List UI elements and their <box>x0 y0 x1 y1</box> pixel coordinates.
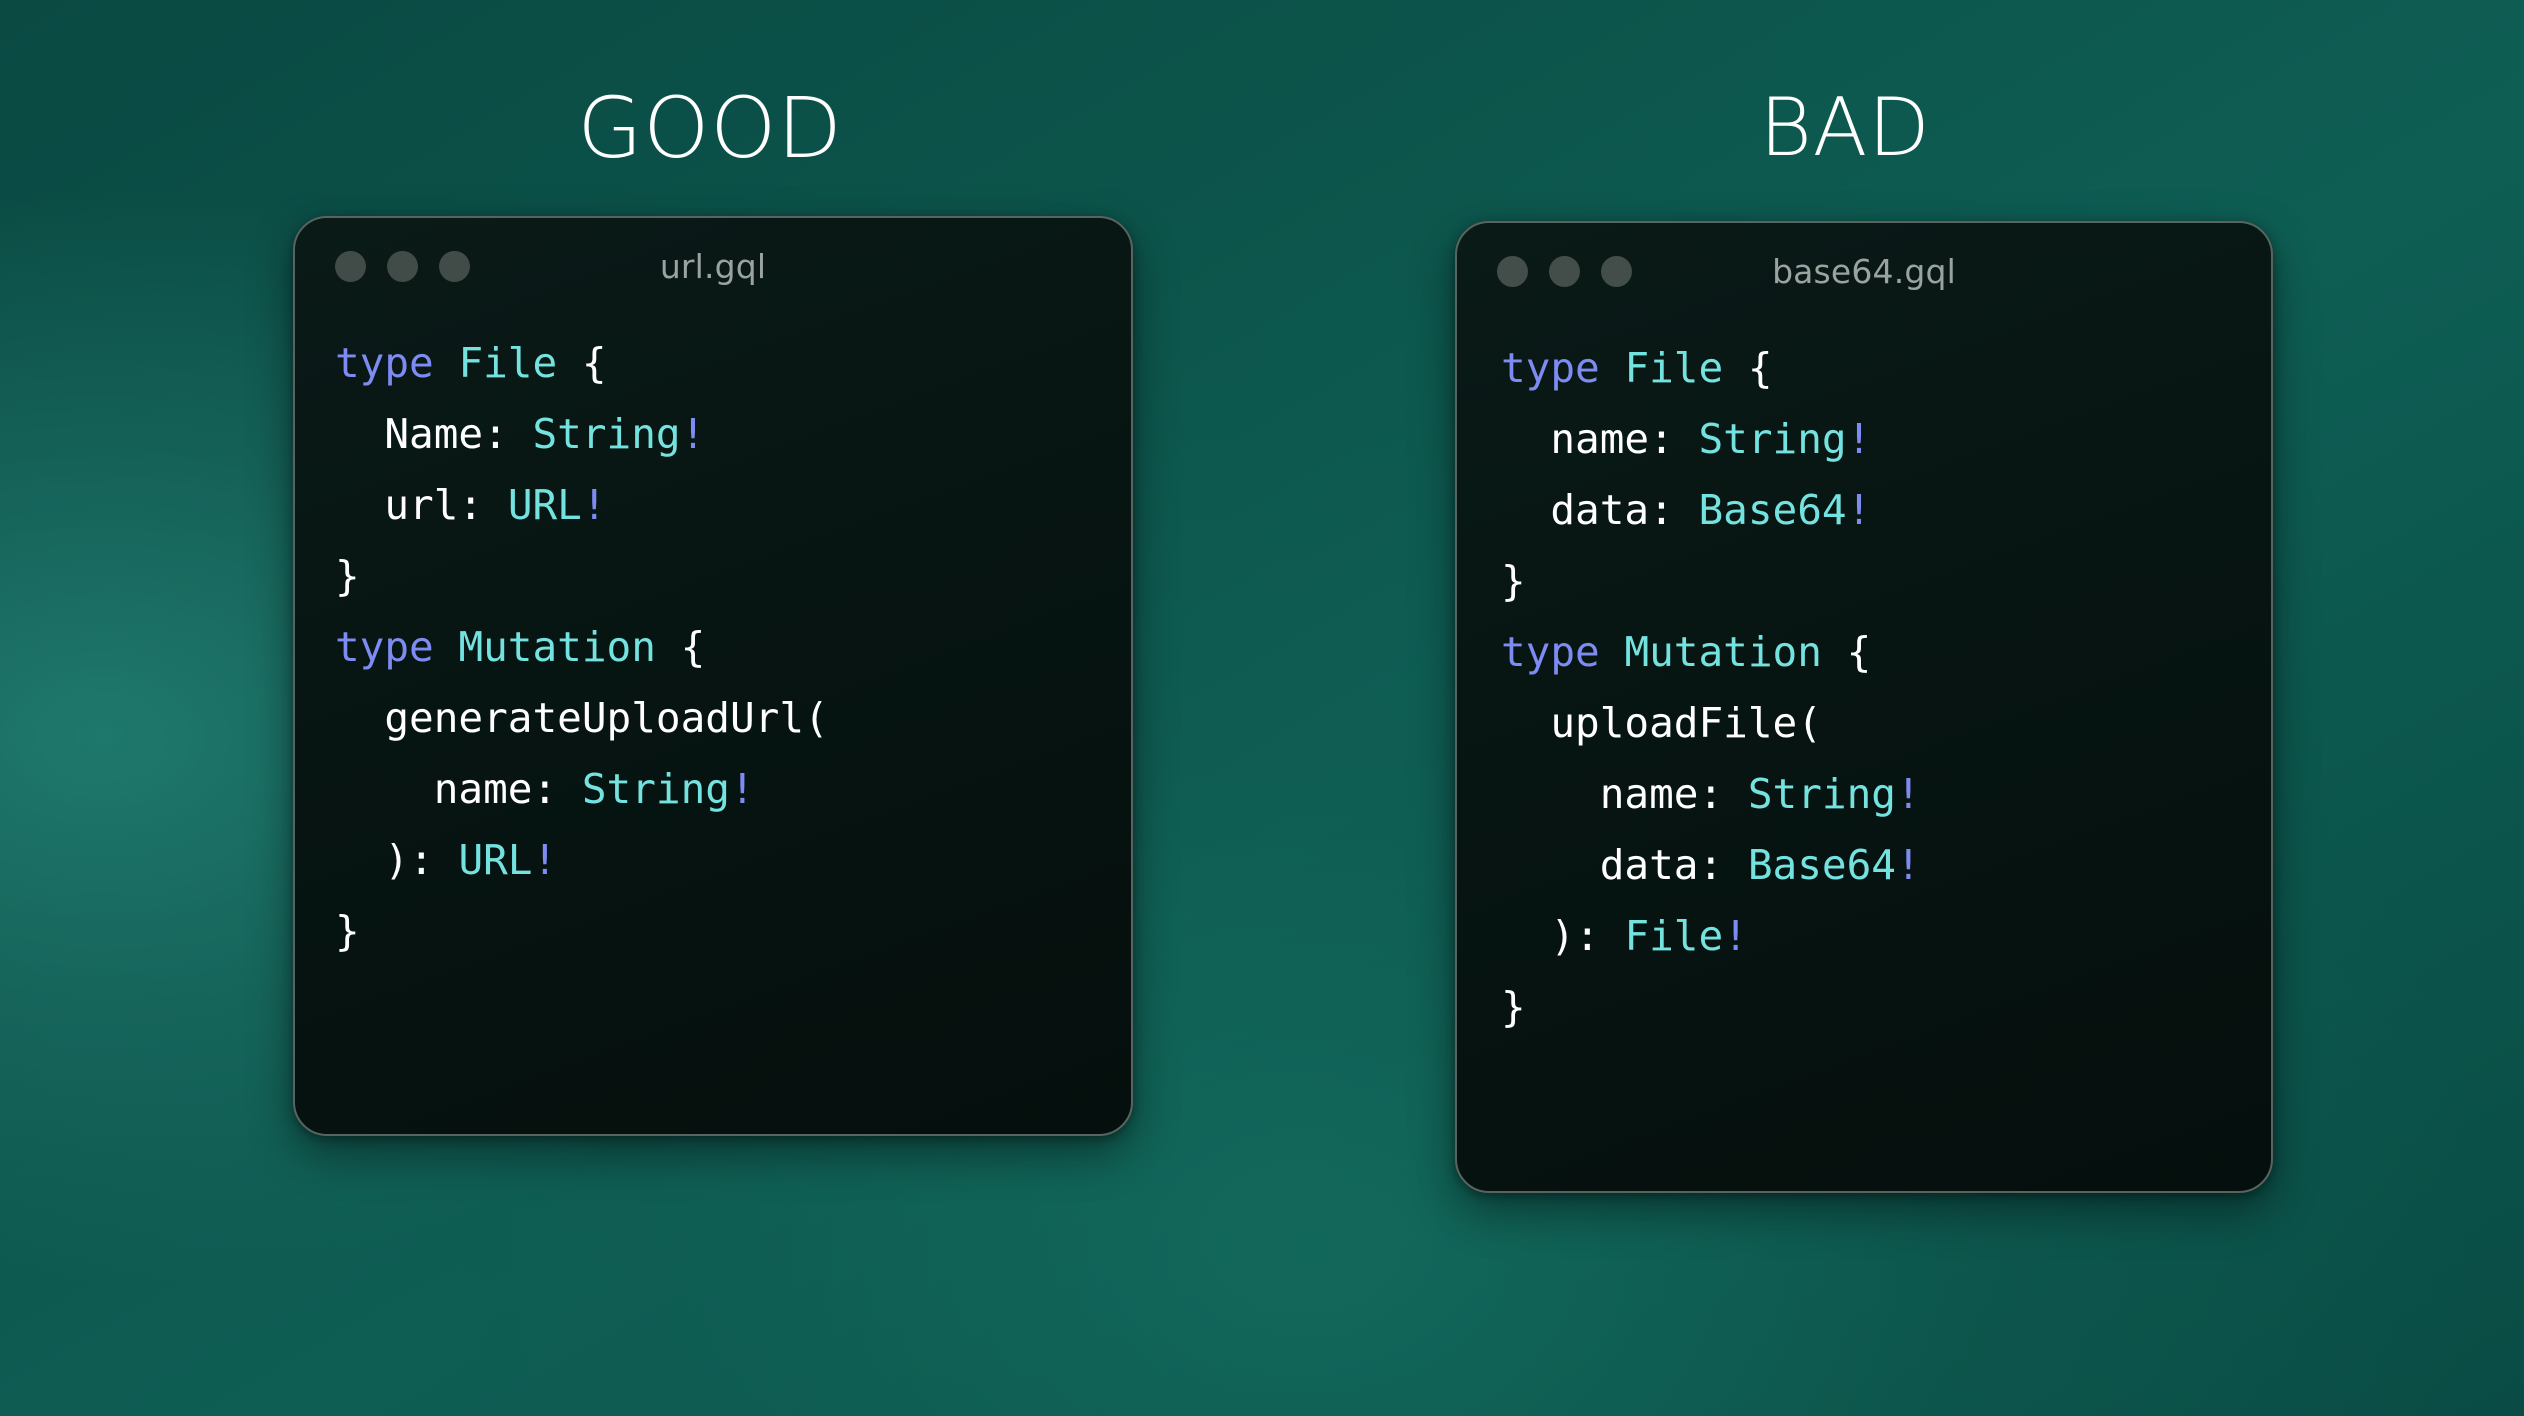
code-token <box>434 623 459 671</box>
code-token: url: <box>384 481 483 529</box>
code-token: Base64 <box>1698 486 1846 534</box>
code-line: name: String! <box>1501 759 2271 830</box>
code-token: URL <box>458 836 532 884</box>
code-line: uploadFile( <box>1501 688 2271 759</box>
code-token: ! <box>681 410 706 458</box>
code-token: data: <box>1600 841 1723 889</box>
code-line: data: Base64! <box>1501 830 2271 901</box>
code-indent <box>1501 699 1550 747</box>
code-token: { <box>1748 344 1773 392</box>
maximize-dot-icon[interactable] <box>439 251 470 282</box>
code-line: } <box>335 541 1131 612</box>
code-token: ! <box>533 836 558 884</box>
code-block-good: type File { Name: String! url: URL!}type… <box>295 314 1131 967</box>
code-line: url: URL! <box>335 470 1131 541</box>
code-token <box>1723 770 1748 818</box>
code-indent <box>1501 841 1600 889</box>
good-heading: GOOD <box>285 86 1135 170</box>
close-dot-icon[interactable] <box>1497 256 1528 287</box>
code-block-bad: type File { name: String! data: Base64!}… <box>1457 319 2271 1043</box>
code-indent <box>1501 415 1550 463</box>
code-token: generateUploadUrl( <box>384 694 828 742</box>
code-token <box>434 339 459 387</box>
titlebar-good: url.gql <box>295 218 1131 314</box>
maximize-dot-icon[interactable] <box>1601 256 1632 287</box>
code-token <box>1674 486 1699 534</box>
code-line: type Mutation { <box>1501 617 2271 688</box>
code-token <box>434 836 459 884</box>
code-token: String <box>1748 770 1896 818</box>
code-line: generateUploadUrl( <box>335 683 1131 754</box>
minimize-dot-icon[interactable] <box>1549 256 1580 287</box>
code-indent <box>1501 912 1550 960</box>
code-token <box>1674 415 1699 463</box>
code-indent <box>335 765 434 813</box>
code-token: File <box>1624 344 1723 392</box>
code-token: name: <box>1550 415 1673 463</box>
code-card-bad: base64.gql type File { name: String! dat… <box>1455 221 2273 1193</box>
code-token <box>483 481 508 529</box>
code-token: String <box>1698 415 1846 463</box>
code-token: name: <box>434 765 557 813</box>
code-line: } <box>1501 546 2271 617</box>
code-indent <box>1501 770 1600 818</box>
code-indent <box>335 410 384 458</box>
code-token <box>508 410 533 458</box>
code-token: ): <box>1550 912 1599 960</box>
code-token: File <box>458 339 557 387</box>
code-token: } <box>335 552 360 600</box>
code-token: type <box>1501 344 1600 392</box>
code-token <box>1600 344 1625 392</box>
code-token: data: <box>1550 486 1673 534</box>
code-line: ): File! <box>1501 901 2271 972</box>
code-token: Base64 <box>1748 841 1896 889</box>
code-token: URL <box>508 481 582 529</box>
code-token: name: <box>1600 770 1723 818</box>
code-indent <box>335 694 384 742</box>
code-token: type <box>335 623 434 671</box>
code-token: ! <box>582 481 607 529</box>
code-token: ! <box>1847 415 1872 463</box>
code-token: type <box>335 339 434 387</box>
code-token: { <box>582 339 607 387</box>
close-dot-icon[interactable] <box>335 251 366 282</box>
window-controls-good <box>335 251 470 282</box>
code-token: uploadFile( <box>1550 699 1822 747</box>
minimize-dot-icon[interactable] <box>387 251 418 282</box>
code-token <box>1600 912 1625 960</box>
code-token: } <box>1501 983 1526 1031</box>
code-token: Name: <box>384 410 507 458</box>
code-token: String <box>532 410 680 458</box>
code-line: type Mutation { <box>335 612 1131 683</box>
code-token: } <box>1501 557 1526 605</box>
code-line: } <box>1501 972 2271 1043</box>
code-token <box>1723 344 1748 392</box>
window-controls-bad <box>1497 256 1632 287</box>
code-line: data: Base64! <box>1501 475 2271 546</box>
code-token: } <box>335 907 360 955</box>
code-token: ! <box>1896 841 1921 889</box>
bad-heading: BAD <box>1455 88 2235 168</box>
code-card-good: url.gql type File { Name: String! url: U… <box>293 216 1133 1136</box>
code-token: File <box>1624 912 1723 960</box>
code-token <box>1600 628 1625 676</box>
code-token <box>557 339 582 387</box>
titlebar-bad: base64.gql <box>1457 223 2271 319</box>
code-token: String <box>582 765 730 813</box>
code-line: type File { <box>1501 333 2271 404</box>
code-token <box>656 623 681 671</box>
code-token <box>1822 628 1847 676</box>
comparison-stage: GOOD BAD url.gql type File { Name: Strin… <box>0 0 2524 1416</box>
code-token: Mutation <box>458 623 655 671</box>
code-token: Mutation <box>1624 628 1821 676</box>
code-token: ): <box>384 836 433 884</box>
code-token: type <box>1501 628 1600 676</box>
code-line: } <box>335 896 1131 967</box>
code-line: name: String! <box>335 754 1131 825</box>
code-token: { <box>681 623 706 671</box>
code-token: ! <box>1847 486 1872 534</box>
code-line: type File { <box>335 328 1131 399</box>
code-line: ): URL! <box>335 825 1131 896</box>
code-indent <box>335 836 384 884</box>
code-token: ! <box>1723 912 1748 960</box>
code-token <box>557 765 582 813</box>
code-token: ! <box>1896 770 1921 818</box>
code-indent <box>1501 486 1550 534</box>
code-line: name: String! <box>1501 404 2271 475</box>
code-token <box>1723 841 1748 889</box>
code-indent <box>335 481 384 529</box>
code-token: { <box>1847 628 1872 676</box>
code-line: Name: String! <box>335 399 1131 470</box>
code-token: ! <box>730 765 755 813</box>
